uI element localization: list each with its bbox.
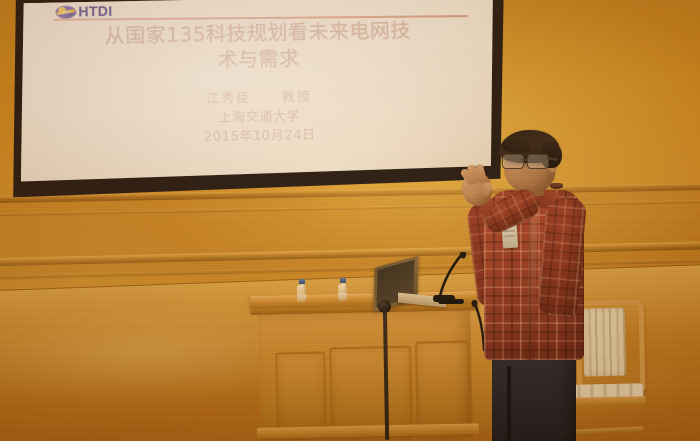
presenter-nose — [547, 172, 555, 182]
eyeglasses-icon — [500, 154, 556, 170]
lecture-photo: HTDI 从国家135科技规划看未来电网技 术与需求 江秀臣 教授 上海交通大学… — [0, 0, 700, 441]
presenter — [466, 128, 606, 441]
water-bottle — [297, 279, 306, 302]
slide-speaker-name: 江秀臣 — [206, 91, 251, 107]
slide-title: 从国家135科技规划看未来电网技 术与需求 — [38, 16, 479, 77]
lectern-front-panel — [258, 310, 473, 440]
bottle-cap — [299, 279, 305, 284]
presenter-trousers — [492, 352, 576, 441]
htdi-emblem-icon — [55, 5, 76, 18]
screen-surface: HTDI 从国家135科技规划看未来电网技 术与需求 江秀臣 教授 上海交通大学… — [17, 0, 497, 185]
presenter-mouth — [550, 183, 563, 189]
wooden-lectern — [252, 291, 477, 441]
presenter-trouser-seam — [507, 366, 511, 441]
eyeglass-bridge — [522, 159, 528, 161]
slide-logo-text: HTDI — [78, 3, 113, 20]
gooseneck-microphone — [432, 252, 468, 312]
bottle-cap — [340, 278, 346, 283]
slide-subtitle-block: 江秀臣 教授 上海交通大学 2015年10月24日 — [39, 86, 480, 151]
slide-speaker-title: 教授 — [282, 90, 312, 106]
presenter-hair-fringe — [502, 138, 530, 153]
presentation-slide: HTDI 从国家135科技规划看未来电网技 术与需求 江秀臣 教授 上海交通大学… — [17, 0, 496, 185]
bottle-label — [338, 293, 347, 299]
eyeglass-lens-left — [502, 154, 524, 169]
microphone-icon — [432, 252, 468, 312]
bottle-label — [297, 294, 306, 300]
water-bottle — [338, 278, 347, 301]
projection-screen: HTDI 从国家135科技规划看未来电网技 术与需求 江秀臣 教授 上海交通大学… — [6, 0, 508, 199]
